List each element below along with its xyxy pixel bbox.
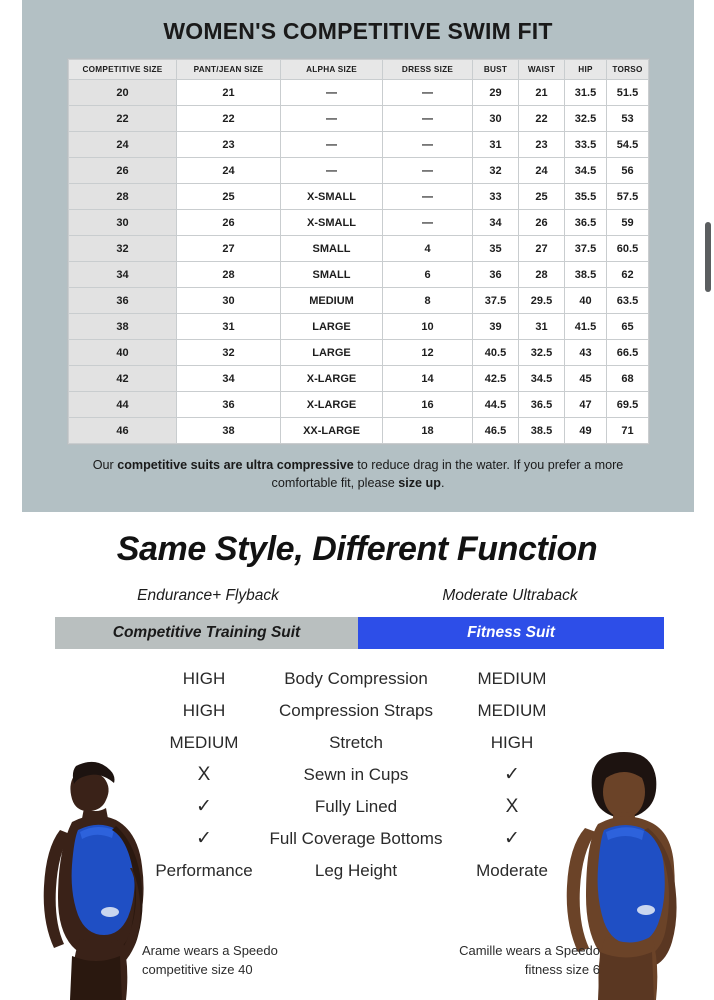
page-title: WOMEN'S COMPETITIVE SWIM FIT — [22, 0, 694, 45]
size-chart-table: COMPETITIVE SIZEPANT/JEAN SIZEALPHA SIZE… — [68, 59, 649, 444]
table-cell: 47 — [565, 392, 607, 418]
table-cell: 6 — [383, 262, 473, 288]
table-cell: 65 — [607, 314, 649, 340]
table-row: 2624——322434.556 — [69, 158, 649, 184]
table-cell: 25 — [177, 184, 281, 210]
note-bold-2: size up — [398, 476, 441, 490]
table-cell: 34 — [177, 366, 281, 392]
comparison-row: ✓Fully LinedX — [0, 791, 714, 823]
comparison-row: MEDIUMStretchHIGH — [0, 727, 714, 759]
model-captions: Arame wears a Speedo competitive size 40… — [0, 942, 714, 982]
table-cell: 26 — [69, 158, 177, 184]
table-cell: 40.5 — [473, 340, 519, 366]
comparison-right-value: Moderate — [428, 855, 596, 887]
table-cell: 24 — [69, 132, 177, 158]
table-cell: 43 — [565, 340, 607, 366]
table-cell: 24 — [519, 158, 565, 184]
table-cell: 38.5 — [565, 262, 607, 288]
table-cell: 22 — [519, 106, 565, 132]
comparison-right-value: ✓ — [428, 823, 596, 855]
right-suit-name: Moderate Ultraback — [360, 587, 660, 605]
table-cell: 28 — [177, 262, 281, 288]
table-cell: 71 — [607, 418, 649, 444]
table-cell: 41.5 — [565, 314, 607, 340]
table-cell: 35.5 — [565, 184, 607, 210]
table-cell: 32 — [69, 236, 177, 262]
table-row: 3428SMALL6362838.562 — [69, 262, 649, 288]
table-cell: 23 — [177, 132, 281, 158]
table-cell: 31 — [519, 314, 565, 340]
table-cell: 42 — [69, 366, 177, 392]
table-cell: 32 — [177, 340, 281, 366]
table-row: 2423——312333.554.5 — [69, 132, 649, 158]
comparison-section: Same Style, Different Function Endurance… — [0, 512, 714, 1000]
column-header-3: DRESS SIZE — [383, 60, 473, 80]
table-cell: 22 — [177, 106, 281, 132]
caption-right-line1: Camille wears a Speedo — [410, 942, 600, 961]
table-cell: 36 — [177, 392, 281, 418]
column-header-4: BUST — [473, 60, 519, 80]
table-cell: 44.5 — [473, 392, 519, 418]
table-cell: SMALL — [281, 262, 383, 288]
table-cell: 34.5 — [565, 158, 607, 184]
table-cell: 39 — [473, 314, 519, 340]
comparison-row: HIGHBody CompressionMEDIUM — [0, 663, 714, 695]
table-cell: 22 — [69, 106, 177, 132]
table-cell: 4 — [383, 236, 473, 262]
note-text-2: to reduce drag in the — [354, 458, 473, 472]
table-cell: 18 — [383, 418, 473, 444]
table-cell: 36.5 — [565, 210, 607, 236]
table-cell: 8 — [383, 288, 473, 314]
table-cell: LARGE — [281, 340, 383, 366]
table-header-row: COMPETITIVE SIZEPANT/JEAN SIZEALPHA SIZE… — [69, 60, 649, 80]
table-cell: 38 — [177, 418, 281, 444]
table-cell: 12 — [383, 340, 473, 366]
table-cell: 28 — [519, 262, 565, 288]
table-cell: 40 — [565, 288, 607, 314]
table-cell: 57.5 — [607, 184, 649, 210]
table-cell: MEDIUM — [281, 288, 383, 314]
table-cell: 38 — [69, 314, 177, 340]
table-cell: 40 — [69, 340, 177, 366]
table-cell: SMALL — [281, 236, 383, 262]
note-text-4: . — [441, 476, 445, 490]
table-cell: 23 — [519, 132, 565, 158]
table-cell: 34 — [69, 262, 177, 288]
table-cell: 36.5 — [519, 392, 565, 418]
table-row: 2825X-SMALL—332535.557.5 — [69, 184, 649, 210]
caption-left-line1: Arame wears a Speedo — [142, 942, 352, 961]
table-cell: 49 — [565, 418, 607, 444]
table-cell: 37.5 — [565, 236, 607, 262]
caption-left-line2: competitive size 40 — [142, 961, 352, 980]
competitive-training-suit-bar[interactable]: Competitive Training Suit — [55, 617, 358, 649]
table-cell: 14 — [383, 366, 473, 392]
table-row: 4234X-LARGE1442.534.54568 — [69, 366, 649, 392]
table-cell: 30 — [473, 106, 519, 132]
table-cell: 31 — [177, 314, 281, 340]
table-cell: — — [383, 210, 473, 236]
table-cell: 33.5 — [565, 132, 607, 158]
table-cell: — — [281, 80, 383, 106]
table-row: 3831LARGE10393141.565 — [69, 314, 649, 340]
table-cell: 26 — [177, 210, 281, 236]
table-cell: — — [383, 106, 473, 132]
column-header-1: PANT/JEAN SIZE — [177, 60, 281, 80]
table-cell: 44 — [69, 392, 177, 418]
comparison-row: ✓Full Coverage Bottoms✓ — [0, 823, 714, 855]
table-cell: 32 — [473, 158, 519, 184]
column-header-2: ALPHA SIZE — [281, 60, 383, 80]
table-cell: — — [383, 158, 473, 184]
table-cell: 68 — [607, 366, 649, 392]
table-cell: 28 — [69, 184, 177, 210]
table-cell: 60.5 — [607, 236, 649, 262]
table-cell: 66.5 — [607, 340, 649, 366]
scrollbar-thumb[interactable] — [705, 222, 711, 292]
comparison-rows: HIGHBody CompressionMEDIUMHIGHCompressio… — [0, 663, 714, 887]
table-row: 2021——292131.551.5 — [69, 80, 649, 106]
table-row: 4436X-LARGE1644.536.54769.5 — [69, 392, 649, 418]
table-cell: 62 — [607, 262, 649, 288]
table-cell: 36 — [473, 262, 519, 288]
table-row: 2222——302232.553 — [69, 106, 649, 132]
table-row: 4638XX-LARGE1846.538.54971 — [69, 418, 649, 444]
table-cell: 37.5 — [473, 288, 519, 314]
comparison-right-value: MEDIUM — [428, 663, 596, 695]
column-header-7: TORSO — [607, 60, 649, 80]
table-cell: 34 — [473, 210, 519, 236]
table-body: 2021——292131.551.52222——302232.5532423——… — [69, 80, 649, 444]
table-cell: 21 — [177, 80, 281, 106]
table-cell: 31 — [473, 132, 519, 158]
table-cell: 54.5 — [607, 132, 649, 158]
table-cell: XX-LARGE — [281, 418, 383, 444]
table-cell: 32.5 — [565, 106, 607, 132]
table-cell: X-SMALL — [281, 210, 383, 236]
comparison-title: Same Style, Different Function — [0, 512, 714, 569]
column-header-5: WAIST — [519, 60, 565, 80]
table-cell: 46.5 — [473, 418, 519, 444]
table-cell: 59 — [607, 210, 649, 236]
table-cell: 10 — [383, 314, 473, 340]
fit-note: Our competitive suits are ultra compress… — [82, 457, 634, 493]
left-suit-name: Endurance+ Flyback — [58, 587, 358, 605]
comparison-row: XSewn in Cups✓ — [0, 759, 714, 791]
table-cell: — — [383, 184, 473, 210]
table-cell: 45 — [565, 366, 607, 392]
table-row: 3227SMALL4352737.560.5 — [69, 236, 649, 262]
column-header-0: COMPETITIVE SIZE — [69, 60, 177, 80]
note-text-1: Our — [93, 458, 118, 472]
table-cell: 63.5 — [607, 288, 649, 314]
table-cell: 30 — [177, 288, 281, 314]
caption-left: Arame wears a Speedo competitive size 40 — [142, 942, 352, 980]
table-cell: — — [281, 132, 383, 158]
comparison-row: HIGHCompression StrapsMEDIUM — [0, 695, 714, 727]
size-chart-panel: WOMEN'S COMPETITIVE SWIM FIT COMPETITIVE… — [22, 0, 694, 512]
caption-right-line2: fitness size 6 — [410, 961, 600, 980]
table-cell: 21 — [519, 80, 565, 106]
table-cell: 46 — [69, 418, 177, 444]
table-cell: 32.5 — [519, 340, 565, 366]
table-cell: 38.5 — [519, 418, 565, 444]
table-cell: 35 — [473, 236, 519, 262]
column-header-6: HIP — [565, 60, 607, 80]
caption-right: Camille wears a Speedo fitness size 6 — [410, 942, 600, 980]
table-cell: X-SMALL — [281, 184, 383, 210]
comparison-right-value: ✓ — [428, 759, 596, 791]
table-cell: — — [281, 158, 383, 184]
table-row: 4032LARGE1240.532.54366.5 — [69, 340, 649, 366]
table-cell: 25 — [519, 184, 565, 210]
table-cell: 53 — [607, 106, 649, 132]
table-cell: — — [383, 132, 473, 158]
table-cell: 30 — [69, 210, 177, 236]
table-cell: 24 — [177, 158, 281, 184]
table-cell: 33 — [473, 184, 519, 210]
table-cell: 51.5 — [607, 80, 649, 106]
table-cell: 29 — [473, 80, 519, 106]
table-cell: 36 — [69, 288, 177, 314]
page-root: WOMEN'S COMPETITIVE SWIM FIT COMPETITIVE… — [0, 0, 714, 1000]
table-cell: — — [383, 80, 473, 106]
table-cell: 27 — [519, 236, 565, 262]
comparison-right-value: HIGH — [428, 727, 596, 759]
table-cell: 16 — [383, 392, 473, 418]
table-cell: 26 — [519, 210, 565, 236]
comparison-right-value: X — [428, 791, 596, 823]
size-table-container: COMPETITIVE SIZEPANT/JEAN SIZEALPHA SIZE… — [68, 59, 648, 444]
table-cell: 42.5 — [473, 366, 519, 392]
suit-category-bars: Competitive Training Suit Fitness Suit — [0, 617, 714, 649]
table-cell: X-LARGE — [281, 366, 383, 392]
table-cell: 29.5 — [519, 288, 565, 314]
suit-name-row: Endurance+ Flyback Moderate Ultraback — [0, 587, 714, 609]
table-cell: 27 — [177, 236, 281, 262]
comparison-row: PerformanceLeg HeightModerate — [0, 855, 714, 887]
table-row: 3630MEDIUM837.529.54063.5 — [69, 288, 649, 314]
table-cell: 69.5 — [607, 392, 649, 418]
table-row: 3026X-SMALL—342636.559 — [69, 210, 649, 236]
table-cell: — — [281, 106, 383, 132]
fitness-suit-bar[interactable]: Fitness Suit — [358, 617, 664, 649]
comparison-right-value: MEDIUM — [428, 695, 596, 727]
note-bold-1: competitive suits are ultra compressive — [117, 458, 354, 472]
table-cell: 31.5 — [565, 80, 607, 106]
table-cell: X-LARGE — [281, 392, 383, 418]
table-cell: 34.5 — [519, 366, 565, 392]
table-cell: 56 — [607, 158, 649, 184]
table-cell: LARGE — [281, 314, 383, 340]
table-cell: 20 — [69, 80, 177, 106]
